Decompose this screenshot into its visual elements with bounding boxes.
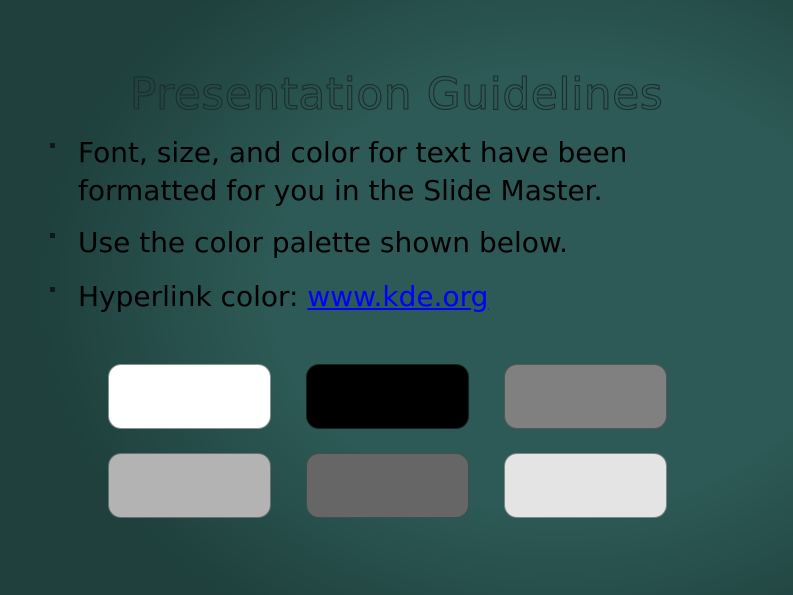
square-bullet-icon [50, 143, 55, 148]
dark-gray-swatch[interactable] [306, 453, 469, 518]
off-white-swatch[interactable] [504, 453, 667, 518]
color-palette [108, 364, 668, 542]
list-item-label: Font, size, and color for text have been… [78, 136, 627, 207]
white-swatch[interactable] [108, 364, 271, 429]
list-item-label: Use the color palette shown below. [78, 226, 568, 259]
black-swatch[interactable] [306, 364, 469, 429]
kde-hyperlink[interactable]: www.kde.org [307, 280, 488, 313]
palette-row-top [108, 364, 668, 429]
page-title: Presentation Guidelines [0, 73, 793, 117]
bullet-list: Font, size, and color for text have been… [44, 134, 754, 332]
presentation-slide: Presentation Guidelines Font, size, and … [0, 0, 793, 595]
medium-gray-swatch[interactable] [504, 364, 667, 429]
hyperlink-prefix-label: Hyperlink color: [78, 280, 307, 313]
square-bullet-icon [50, 287, 55, 292]
light-gray-swatch[interactable] [108, 453, 271, 518]
palette-row-bottom [108, 453, 668, 518]
list-item: Use the color palette shown below. [44, 224, 754, 262]
square-bullet-icon [50, 233, 55, 238]
list-item: Font, size, and color for text have been… [44, 134, 754, 210]
list-item-hyperlink: Hyperlink color: www.kde.org [44, 278, 754, 316]
